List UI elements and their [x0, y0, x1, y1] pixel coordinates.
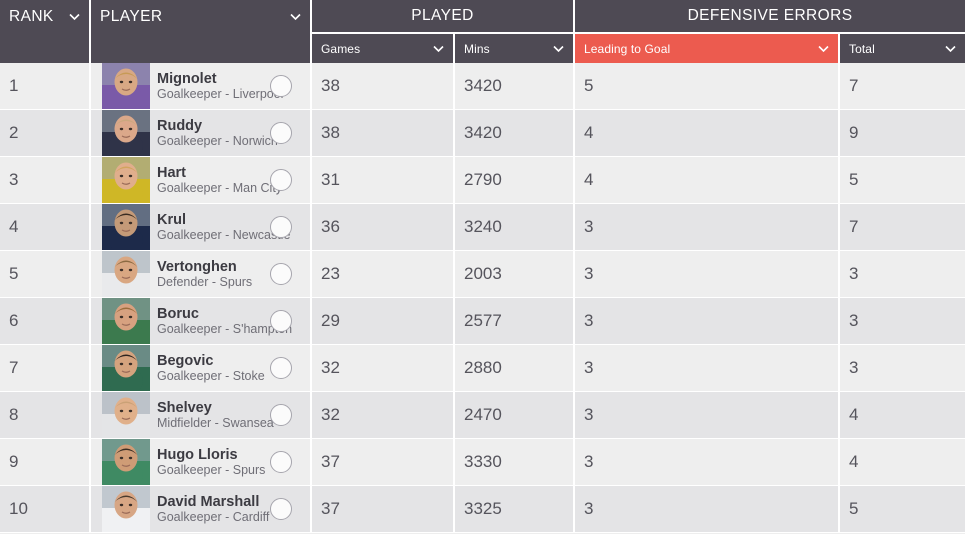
- player-position-team: Goalkeeper - S'hampton: [157, 322, 268, 336]
- player-name: Krul: [157, 212, 268, 228]
- cell-mins: 3420: [455, 110, 575, 157]
- cell-rank: 8: [0, 392, 91, 439]
- mins-value: 2790: [464, 170, 502, 190]
- mins-value: 3330: [464, 452, 502, 472]
- column-header-total-label: Total: [849, 42, 875, 56]
- player-position-team: Goalkeeper - Newcastle: [157, 228, 268, 242]
- cell-rank: 4: [0, 204, 91, 251]
- player-name: Begovic: [157, 353, 268, 369]
- column-header-leading-to-goal[interactable]: Leading to Goal: [575, 34, 840, 63]
- player-photo: [102, 63, 150, 110]
- player-position-team: Goalkeeper - Cardiff: [157, 510, 268, 524]
- cell-total: 3: [840, 298, 965, 345]
- total-value: 5: [849, 499, 858, 519]
- total-value: 5: [849, 170, 858, 190]
- table-row[interactable]: 10David MarshallGoalkeeper - Cardiff3733…: [0, 486, 965, 533]
- cell-leading-to-goal: 4: [575, 157, 840, 204]
- leading-to-goal-value: 4: [584, 170, 593, 190]
- cell-games: 38: [312, 110, 455, 157]
- cell-total: 7: [840, 204, 965, 251]
- cell-games: 23: [312, 251, 455, 298]
- column-header-player[interactable]: PLAYER: [91, 0, 312, 34]
- games-value: 38: [321, 123, 340, 143]
- player-name: Mignolet: [157, 71, 268, 87]
- cell-player[interactable]: David MarshallGoalkeeper - Cardiff: [91, 486, 312, 533]
- rank-value: 5: [9, 264, 18, 284]
- cell-games: 38: [312, 63, 455, 110]
- player-position-team: Goalkeeper - Spurs: [157, 463, 268, 477]
- games-value: 36: [321, 217, 340, 237]
- column-header-total[interactable]: Total: [840, 34, 965, 63]
- column-group-defensive-errors: DEFENSIVE ERRORS: [575, 0, 965, 34]
- games-value: 38: [321, 76, 340, 96]
- games-value: 37: [321, 499, 340, 519]
- table-row[interactable]: 4KrulGoalkeeper - Newcastle36324037: [0, 204, 965, 251]
- player-position-team: Midfielder - Swansea: [157, 416, 268, 430]
- table-row[interactable]: 7BegovicGoalkeeper - Stoke32288033: [0, 345, 965, 392]
- games-value: 31: [321, 170, 340, 190]
- cell-games: 36: [312, 204, 455, 251]
- table-row[interactable]: 6BorucGoalkeeper - S'hampton29257733: [0, 298, 965, 345]
- column-header-player-label: PLAYER: [100, 8, 162, 26]
- column-header-rank[interactable]: RANK: [0, 0, 91, 34]
- cell-player[interactable]: KrulGoalkeeper - Newcastle: [91, 204, 312, 251]
- cell-total: 5: [840, 157, 965, 204]
- cell-leading-to-goal: 3: [575, 486, 840, 533]
- cell-leading-to-goal: 3: [575, 392, 840, 439]
- games-value: 32: [321, 405, 340, 425]
- chevron-down-icon[interactable]: [289, 10, 302, 23]
- leading-to-goal-value: 3: [584, 264, 593, 284]
- cell-total: 4: [840, 392, 965, 439]
- player-name: Ruddy: [157, 118, 268, 134]
- player-position-team: Goalkeeper - Man City: [157, 181, 268, 195]
- cell-rank: 10: [0, 486, 91, 533]
- cell-mins: 2577: [455, 298, 575, 345]
- table-header: RANK PLAYER PLAYED DEFENSIVE ERRORS: [0, 0, 965, 63]
- cell-mins: 2790: [455, 157, 575, 204]
- table-row[interactable]: 8ShelveyMidfielder - Swansea32247034: [0, 392, 965, 439]
- header-group-row: RANK PLAYER PLAYED DEFENSIVE ERRORS: [0, 0, 965, 34]
- cell-rank: 6: [0, 298, 91, 345]
- leading-to-goal-value: 3: [584, 311, 593, 331]
- player-select-radio[interactable]: [270, 169, 292, 191]
- table-row[interactable]: 1MignoletGoalkeeper - Liverpool38342057: [0, 63, 965, 110]
- cell-leading-to-goal: 3: [575, 439, 840, 486]
- cell-player[interactable]: Hugo LlorisGoalkeeper - Spurs: [91, 439, 312, 486]
- mins-value: 2003: [464, 264, 502, 284]
- mins-value: 2577: [464, 311, 502, 331]
- cell-games: 37: [312, 439, 455, 486]
- player-select-radio[interactable]: [270, 216, 292, 238]
- column-header-games[interactable]: Games: [312, 34, 455, 63]
- column-header-rank-label: RANK: [9, 8, 54, 26]
- player-name: Shelvey: [157, 400, 268, 416]
- subheader-spacer-player: [91, 34, 312, 63]
- cell-player[interactable]: ShelveyMidfielder - Swansea: [91, 392, 312, 439]
- rank-value: 7: [9, 358, 18, 378]
- rank-value: 3: [9, 170, 18, 190]
- games-value: 37: [321, 452, 340, 472]
- column-header-mins[interactable]: Mins: [455, 34, 575, 63]
- header-subcolumn-row: Games Mins Leading to Goal Total: [0, 34, 965, 63]
- column-group-defensive-errors-label: DEFENSIVE ERRORS: [688, 7, 853, 25]
- cell-total: 3: [840, 345, 965, 392]
- chevron-down-icon[interactable]: [552, 42, 565, 55]
- column-group-played: PLAYED: [312, 0, 575, 34]
- rank-value: 10: [9, 499, 28, 519]
- games-value: 32: [321, 358, 340, 378]
- total-value: 3: [849, 311, 858, 331]
- player-photo: [102, 110, 150, 157]
- cell-total: 9: [840, 110, 965, 157]
- total-value: 4: [849, 452, 858, 472]
- cell-total: 5: [840, 486, 965, 533]
- player-select-radio[interactable]: [270, 310, 292, 332]
- column-header-mins-label: Mins: [464, 42, 490, 56]
- player-position-team: Goalkeeper - Norwich: [157, 134, 268, 148]
- player-photo: [102, 251, 150, 298]
- mins-value: 3325: [464, 499, 502, 519]
- leading-to-goal-value: 3: [584, 452, 593, 472]
- mins-value: 2470: [464, 405, 502, 425]
- player-photo: [102, 298, 150, 345]
- leading-to-goal-value: 3: [584, 405, 593, 425]
- table-body: 1MignoletGoalkeeper - Liverpool383420572…: [0, 63, 965, 534]
- cell-player[interactable]: RuddyGoalkeeper - Norwich: [91, 110, 312, 157]
- chevron-down-icon[interactable]: [944, 42, 957, 55]
- mins-value: 3240: [464, 217, 502, 237]
- player-select-radio[interactable]: [270, 498, 292, 520]
- player-stats-table: RANK PLAYER PLAYED DEFENSIVE ERRORS: [0, 0, 965, 534]
- cell-mins: 3420: [455, 63, 575, 110]
- total-value: 3: [849, 264, 858, 284]
- cell-games: 32: [312, 345, 455, 392]
- leading-to-goal-value: 3: [584, 358, 593, 378]
- cell-rank: 1: [0, 63, 91, 110]
- leading-to-goal-value: 4: [584, 123, 593, 143]
- games-value: 29: [321, 311, 340, 331]
- total-value: 9: [849, 123, 858, 143]
- leading-to-goal-value: 3: [584, 217, 593, 237]
- player-name: Hugo Lloris: [157, 447, 268, 463]
- player-position-team: Defender - Spurs: [157, 275, 268, 289]
- cell-total: 4: [840, 439, 965, 486]
- cell-rank: 2: [0, 110, 91, 157]
- cell-leading-to-goal: 3: [575, 251, 840, 298]
- cell-mins: 3240: [455, 204, 575, 251]
- column-group-played-label: PLAYED: [411, 7, 473, 25]
- mins-value: 3420: [464, 76, 502, 96]
- player-name: David Marshall: [157, 494, 268, 510]
- mins-value: 2880: [464, 358, 502, 378]
- rank-value: 6: [9, 311, 18, 331]
- player-photo: [102, 486, 150, 533]
- total-value: 4: [849, 405, 858, 425]
- cell-mins: 2470: [455, 392, 575, 439]
- cell-player[interactable]: BegovicGoalkeeper - Stoke: [91, 345, 312, 392]
- cell-leading-to-goal: 4: [575, 110, 840, 157]
- cell-rank: 7: [0, 345, 91, 392]
- cell-games: 29: [312, 298, 455, 345]
- player-name: Vertonghen: [157, 259, 268, 275]
- player-photo: [102, 392, 150, 439]
- player-position-team: Goalkeeper - Liverpool: [157, 87, 268, 101]
- cell-mins: 3330: [455, 439, 575, 486]
- cell-total: 3: [840, 251, 965, 298]
- player-select-radio[interactable]: [270, 75, 292, 97]
- cell-rank: 5: [0, 251, 91, 298]
- chevron-down-icon[interactable]: [817, 42, 830, 55]
- cell-mins: 3325: [455, 486, 575, 533]
- cell-leading-to-goal: 3: [575, 298, 840, 345]
- rank-value: 1: [9, 76, 18, 96]
- chevron-down-icon[interactable]: [68, 10, 81, 23]
- player-select-radio[interactable]: [270, 451, 292, 473]
- rank-value: 4: [9, 217, 18, 237]
- player-select-radio[interactable]: [270, 404, 292, 426]
- column-header-games-label: Games: [321, 42, 360, 56]
- player-photo: [102, 345, 150, 392]
- cell-leading-to-goal: 3: [575, 204, 840, 251]
- leading-to-goal-value: 5: [584, 76, 593, 96]
- cell-total: 7: [840, 63, 965, 110]
- cell-rank: 3: [0, 157, 91, 204]
- cell-leading-to-goal: 3: [575, 345, 840, 392]
- chevron-down-icon[interactable]: [432, 42, 445, 55]
- cell-games: 32: [312, 392, 455, 439]
- player-position-team: Goalkeeper - Stoke: [157, 369, 268, 383]
- player-select-radio[interactable]: [270, 122, 292, 144]
- column-header-leading-to-goal-label: Leading to Goal: [584, 42, 670, 56]
- cell-player[interactable]: HartGoalkeeper - Man City: [91, 157, 312, 204]
- cell-player[interactable]: BorucGoalkeeper - S'hampton: [91, 298, 312, 345]
- cell-mins: 2880: [455, 345, 575, 392]
- cell-player[interactable]: MignoletGoalkeeper - Liverpool: [91, 63, 312, 110]
- table-row[interactable]: 5VertonghenDefender - Spurs23200333: [0, 251, 965, 298]
- cell-games: 31: [312, 157, 455, 204]
- rank-value: 9: [9, 452, 18, 472]
- mins-value: 3420: [464, 123, 502, 143]
- player-photo: [102, 157, 150, 204]
- player-name: Boruc: [157, 306, 268, 322]
- cell-leading-to-goal: 5: [575, 63, 840, 110]
- table-row[interactable]: 9Hugo LlorisGoalkeeper - Spurs37333034: [0, 439, 965, 486]
- table-row[interactable]: 2RuddyGoalkeeper - Norwich38342049: [0, 110, 965, 157]
- leading-to-goal-value: 3: [584, 499, 593, 519]
- rank-value: 8: [9, 405, 18, 425]
- games-value: 23: [321, 264, 340, 284]
- cell-rank: 9: [0, 439, 91, 486]
- player-select-radio[interactable]: [270, 357, 292, 379]
- total-value: 7: [849, 76, 858, 96]
- cell-mins: 2003: [455, 251, 575, 298]
- player-photo: [102, 439, 150, 486]
- player-photo: [102, 204, 150, 251]
- cell-games: 37: [312, 486, 455, 533]
- subheader-spacer-rank: [0, 34, 91, 63]
- rank-value: 2: [9, 123, 18, 143]
- player-name: Hart: [157, 165, 268, 181]
- cell-player[interactable]: VertonghenDefender - Spurs: [91, 251, 312, 298]
- total-value: 3: [849, 358, 858, 378]
- player-select-radio[interactable]: [270, 263, 292, 285]
- table-row[interactable]: 3HartGoalkeeper - Man City31279045: [0, 157, 965, 204]
- total-value: 7: [849, 217, 858, 237]
